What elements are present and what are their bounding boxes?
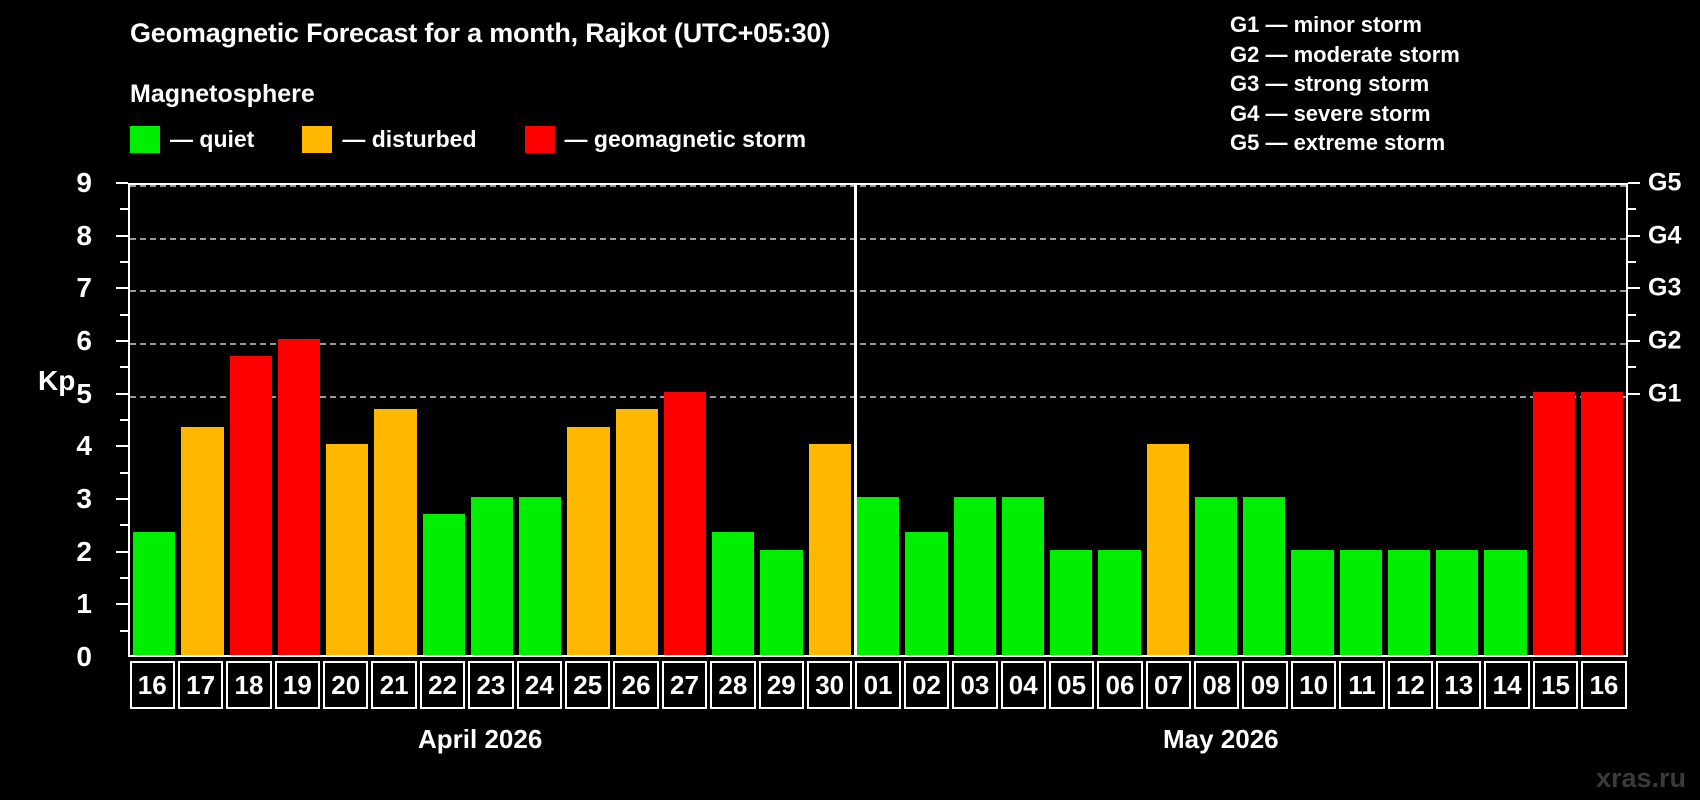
y-tick-label-3: 3 [52,483,92,515]
bar-slot [1337,185,1385,655]
bar-slot [1385,185,1433,655]
plot-inner [130,185,1626,655]
day-label-05: 05 [1049,661,1094,709]
bar-07 [1147,444,1189,655]
y-tick-mark-minor [120,366,128,368]
g-tick-label-G3: G3 [1648,274,1681,303]
g-tick-mark-G4 [1628,235,1640,237]
g-tick-mark-G3 [1628,287,1640,289]
y-tick-label-0: 0 [52,641,92,673]
y-tick-label-8: 8 [52,220,92,252]
bar-slot [564,185,612,655]
legend-item-quiet: — quiet [130,126,254,153]
day-label-29: 29 [759,661,804,709]
y-tick-label-5: 5 [52,378,92,410]
day-label-28: 28 [710,661,755,709]
bar-15 [1533,392,1575,655]
y-tick-label-2: 2 [52,536,92,568]
bar-27 [664,392,706,655]
legend-swatch-quiet-icon [130,126,160,153]
bar-series [130,185,1626,655]
bar-slot [1144,185,1192,655]
bar-slot [661,185,709,655]
y-tick-mark-8 [116,235,128,237]
bar-slot [1240,185,1288,655]
bar-24 [519,497,561,655]
bar-slot [130,185,178,655]
bar-slot [323,185,371,655]
y-tick-mark-2 [116,551,128,553]
month-label-may: May 2026 [1163,724,1279,755]
g-tick-mark-minor [1628,314,1636,316]
bar-slot [999,185,1047,655]
bar-19 [278,339,320,655]
bar-slot [371,185,419,655]
y-tick-mark-minor [120,472,128,474]
bar-slot [709,185,757,655]
y-tick-mark-minor [120,524,128,526]
day-label-13: 13 [1436,661,1481,709]
bar-slot [275,185,323,655]
bar-26 [616,409,658,655]
page-title: Geomagnetic Forecast for a month, Rajkot… [130,18,830,49]
bar-16 [1581,392,1623,655]
day-label-21: 21 [371,661,416,709]
legend-heading: Magnetosphere [130,80,315,109]
bar-slot [1433,185,1481,655]
bar-slot [1288,185,1336,655]
legend-label-storm: — geomagnetic storm [565,126,807,153]
day-label-24: 24 [517,661,562,709]
g-scale-line-g2: G2 — moderate storm [1230,40,1460,70]
bar-slot [227,185,275,655]
bar-29 [760,550,802,655]
day-label-22: 22 [420,661,465,709]
bar-slot [757,185,805,655]
y-tick-mark-minor [120,208,128,210]
day-label-01: 01 [855,661,900,709]
bar-09 [1243,497,1285,655]
bar-slot [420,185,468,655]
bar-30 [809,444,851,655]
y-tick-mark-7 [116,287,128,289]
y-tick-mark-minor [120,577,128,579]
y-tick-label-4: 4 [52,430,92,462]
day-label-08: 08 [1194,661,1239,709]
bar-slot [1095,185,1143,655]
y-tick-mark-9 [116,182,128,184]
day-label-14: 14 [1484,661,1529,709]
bar-12 [1388,550,1430,655]
bar-02 [905,532,947,655]
bar-slot [1047,185,1095,655]
bar-21 [374,409,416,655]
bar-slot [468,185,516,655]
legend-item-storm: — geomagnetic storm [525,126,807,153]
y-tick-label-6: 6 [52,325,92,357]
g-scale-line-g5: G5 — extreme storm [1230,128,1460,158]
y-tick-mark-1 [116,603,128,605]
day-label-16: 16 [130,661,175,709]
bar-14 [1484,550,1526,655]
day-label-23: 23 [468,661,513,709]
legend-label-quiet: — quiet [170,126,254,153]
bar-03 [954,497,996,655]
y-tick-mark-3 [116,498,128,500]
day-label-17: 17 [178,661,223,709]
day-label-18: 18 [226,661,271,709]
day-label-16: 16 [1581,661,1626,709]
g-tick-label-G5: G5 [1648,169,1681,198]
bar-05 [1050,550,1092,655]
day-label-25: 25 [565,661,610,709]
y-tick-mark-5 [116,393,128,395]
day-label-06: 06 [1097,661,1142,709]
bar-slot [1530,185,1578,655]
day-label-30: 30 [807,661,852,709]
day-label-26: 26 [613,661,658,709]
bar-16 [133,532,175,655]
bar-25 [567,427,609,655]
y-tick-mark-minor [120,419,128,421]
bar-11 [1340,550,1382,655]
day-label-03: 03 [952,661,997,709]
bar-slot [613,185,661,655]
legend-item-disturbed: — disturbed [302,126,476,153]
g-scale-legend: G1 — minor storm G2 — moderate storm G3 … [1230,10,1460,158]
day-label-10: 10 [1291,661,1336,709]
g-tick-label-G2: G2 [1648,327,1681,356]
bar-slot [854,185,902,655]
bar-10 [1291,550,1333,655]
g-tick-mark-G5 [1628,182,1640,184]
g-tick-mark-G1 [1628,393,1640,395]
day-label-11: 11 [1339,661,1384,709]
bar-20 [326,444,368,655]
day-label-15: 15 [1533,661,1578,709]
plot-area [128,183,1628,657]
legend-swatch-storm-icon [525,126,555,153]
bar-slot [1481,185,1529,655]
bar-22 [423,514,465,655]
bar-17 [181,427,223,655]
day-label-07: 07 [1146,661,1191,709]
y-tick-mark-minor [120,261,128,263]
watermark: xras.ru [1596,763,1686,794]
magnetosphere-legend: — quiet — disturbed — geomagnetic storm [130,125,806,153]
bar-28 [712,532,754,655]
bar-slot [178,185,226,655]
g-tick-mark-G2 [1628,340,1640,342]
day-label-12: 12 [1388,661,1433,709]
day-label-27: 27 [662,661,707,709]
bar-01 [857,497,899,655]
y-tick-mark-6 [116,340,128,342]
bar-18 [230,356,272,655]
g-tick-mark-minor [1628,366,1636,368]
bar-23 [471,497,513,655]
day-label-04: 04 [1001,661,1046,709]
month-label-april: April 2026 [418,724,542,755]
g-scale-line-g4: G4 — severe storm [1230,99,1460,129]
day-label-02: 02 [904,661,949,709]
bar-slot [951,185,999,655]
bar-04 [1002,497,1044,655]
y-tick-mark-minor [120,314,128,316]
day-label-row: 1617181920212223242526272829300102030405… [128,661,1628,709]
day-label-19: 19 [275,661,320,709]
legend-label-disturbed: — disturbed [342,126,476,153]
g-tick-label-G1: G1 [1648,379,1681,408]
bar-06 [1098,550,1140,655]
month-divider [854,185,857,655]
bar-13 [1436,550,1478,655]
g-scale-line-g1: G1 — minor storm [1230,10,1460,40]
y-tick-label-9: 9 [52,167,92,199]
y-tick-mark-minor [120,630,128,632]
bar-slot [1578,185,1626,655]
g-tick-label-G4: G4 [1648,221,1681,250]
day-label-09: 09 [1242,661,1287,709]
g-scale-line-g3: G3 — strong storm [1230,69,1460,99]
y-tick-label-7: 7 [52,272,92,304]
legend-swatch-disturbed-icon [302,126,332,153]
bar-slot [902,185,950,655]
day-label-20: 20 [323,661,368,709]
bar-slot [516,185,564,655]
bar-08 [1195,497,1237,655]
bar-slot [1192,185,1240,655]
g-tick-mark-minor [1628,208,1636,210]
chart-page: Geomagnetic Forecast for a month, Rajkot… [0,0,1700,800]
y-tick-mark-4 [116,445,128,447]
bar-slot [806,185,854,655]
g-tick-mark-minor [1628,261,1636,263]
y-tick-label-1: 1 [52,588,92,620]
